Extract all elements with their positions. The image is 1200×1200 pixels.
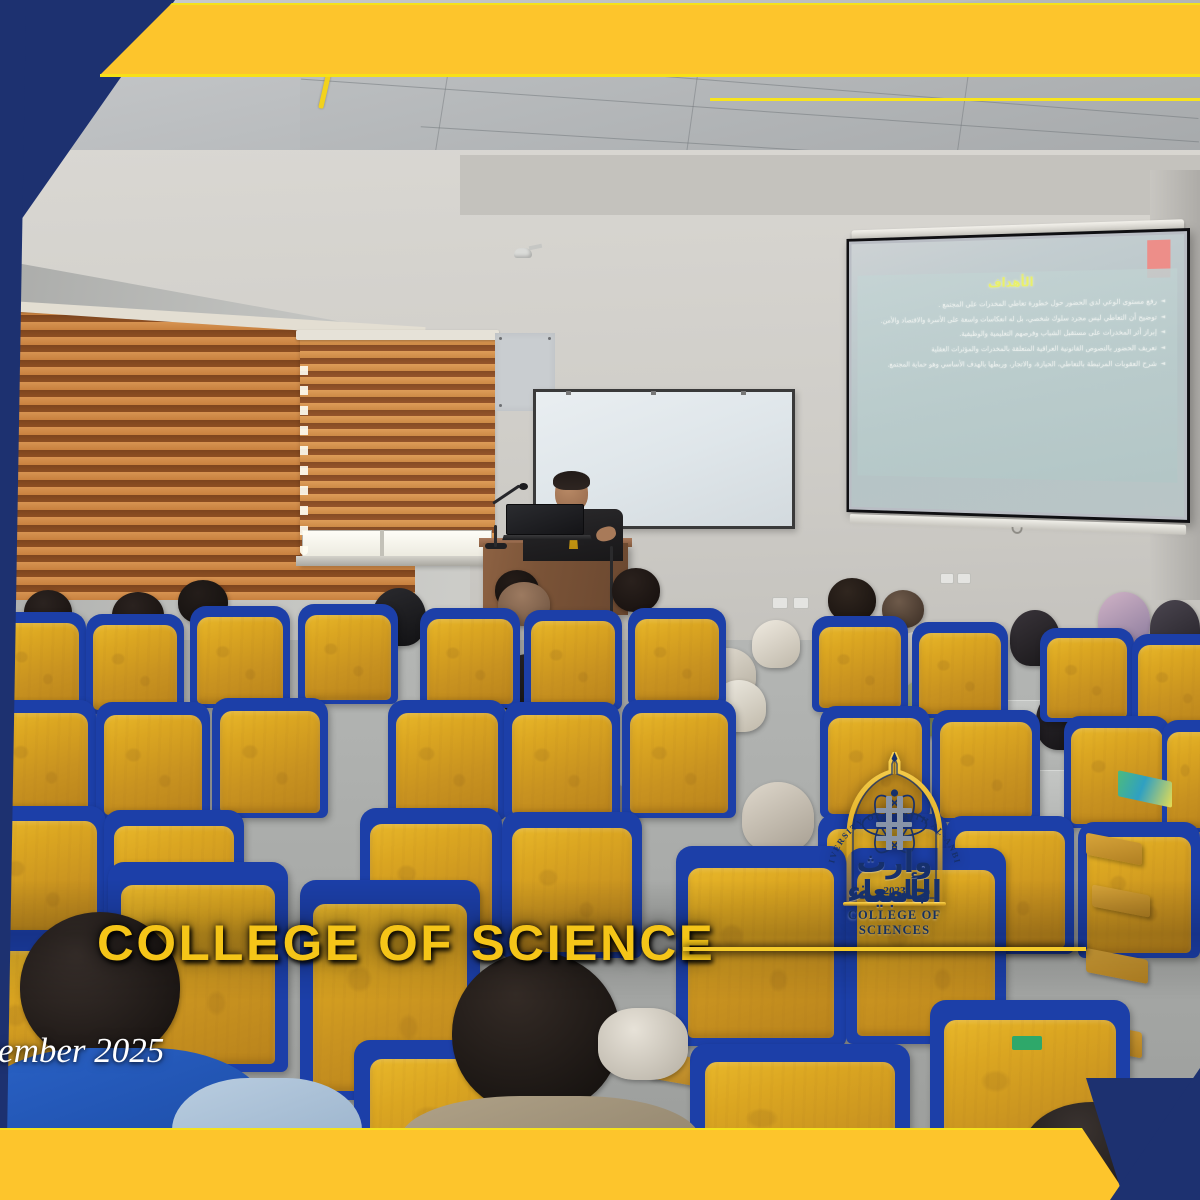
auditorium-seat xyxy=(388,700,506,820)
page-title: COLLEGE OF SCIENCE xyxy=(97,914,715,972)
frame-bottom-banner xyxy=(0,1128,1200,1200)
slide-bullet: ◄ رفع مستوى الوعي لدى الحضور حول خطورة ت… xyxy=(866,296,1165,311)
bullet-marker-icon: ◄ xyxy=(1161,296,1165,307)
university-logo: UNIVERSITY OF WARITH AL-ANBIYA وارث الأن… xyxy=(812,752,977,937)
slide-bullet: ◄ توضيح أن التعاطي ليس مجرد سلوك شخصي، ب… xyxy=(866,312,1165,326)
microphone-stand xyxy=(494,525,497,547)
auditorium-seat xyxy=(420,608,520,708)
projected-image: الأهداف ◄ رفع مستوى الوعي لدى الحضور حول… xyxy=(852,234,1185,517)
upper-wall-band xyxy=(460,155,1200,215)
auditorium-seat xyxy=(298,604,398,704)
atom-nucleus-icon xyxy=(891,789,898,796)
auditorium-seat xyxy=(504,702,620,820)
screen-frame: الأهداف ◄ رفع مستوى الوعي لدى الحضور حول… xyxy=(846,228,1190,523)
audience-hijab xyxy=(752,620,800,668)
wall-socket xyxy=(957,573,971,584)
audience-head xyxy=(612,568,660,612)
auditorium-seat xyxy=(212,698,328,818)
auditorium-seat xyxy=(1040,628,1134,722)
wall-socket xyxy=(772,597,788,609)
event-poster: الأهداف ◄ رفع مستوى الوعي لدى الحضور حول… xyxy=(0,0,1200,1200)
slide-bullet-text: شرح العقوبات المرتبطة بالتعاطي، الحيازة،… xyxy=(887,359,1157,370)
blind-cord xyxy=(300,355,308,555)
bullet-marker-icon: ◄ xyxy=(1161,359,1165,370)
slide-bullet-text: إبراز أثر المخدرات على مستقبل الشباب وفر… xyxy=(959,328,1157,340)
presentation-slide: الأهداف ◄ رفع مستوى الوعي لدى الحضور حول… xyxy=(858,268,1177,482)
title-underline-rule xyxy=(683,947,1086,951)
microphone-icon xyxy=(519,483,528,490)
auditorium-seat xyxy=(1064,716,1170,828)
slide-bullet-text: رفع مستوى الوعي لدى الحضور حول خطورة تعا… xyxy=(938,297,1157,311)
auditorium-seat xyxy=(622,700,736,818)
auditorium-seat xyxy=(86,614,184,714)
sticker xyxy=(1012,1036,1042,1050)
speaker-hair xyxy=(553,471,590,490)
event-date: ovember 2025 xyxy=(0,1031,164,1071)
slide-bullet-text: توضيح أن التعاطي ليس مجرد سلوك شخصي، بل … xyxy=(881,312,1157,326)
projector-screen: الأهداف ◄ رفع مستوى الوعي لدى الحضور حول… xyxy=(846,228,1190,523)
bullet-marker-icon: ◄ xyxy=(1161,312,1165,323)
window-sill xyxy=(296,556,496,566)
frame-top-banner xyxy=(0,3,1200,75)
window-mullion xyxy=(380,530,384,558)
auditorium-seat xyxy=(0,700,96,816)
laptop-base xyxy=(502,535,592,540)
window-glass xyxy=(302,530,492,558)
logo-subtitle: COLLEGE OF SCIENCES xyxy=(812,908,977,938)
logo-year: 2023 xyxy=(812,885,977,897)
slide-bullet-text: تعريف الحضور بالنصوص القانونية العراقية … xyxy=(931,343,1157,355)
slide-title: الأهداف xyxy=(866,273,1165,294)
auditorium-seat xyxy=(912,622,1008,718)
auditorium-seat xyxy=(812,616,908,712)
laptop-screen xyxy=(506,504,584,535)
frame-top-underline xyxy=(0,74,1200,77)
auditorium-seat xyxy=(190,606,290,708)
slide-bullet: ◄ إبراز أثر المخدرات على مستقبل الشباب و… xyxy=(866,328,1165,341)
auditorium-seat xyxy=(524,610,622,710)
bullet-marker-icon: ◄ xyxy=(1161,328,1165,339)
audience-hijab xyxy=(742,782,814,852)
auditorium-seat xyxy=(1162,720,1200,832)
slide-bullet: ◄ تعريف الحضور بالنصوص القانونية العراقي… xyxy=(866,343,1165,355)
slide-bullet: ◄ شرح العقوبات المرتبطة بالتعاطي، الحياز… xyxy=(866,359,1165,370)
lecture-hall-photo: الأهداف ◄ رفع مستوى الوعي لدى الحضور حول… xyxy=(0,0,1200,1200)
auditorium-seat xyxy=(96,702,210,820)
audience-head xyxy=(598,1008,688,1080)
bullet-marker-icon: ◄ xyxy=(1161,343,1165,354)
auditorium-seat xyxy=(628,608,726,706)
wall-socket xyxy=(940,573,954,584)
ceiling-camera-icon xyxy=(514,245,542,258)
blind-headrail xyxy=(296,330,499,340)
wall-socket xyxy=(793,597,809,609)
